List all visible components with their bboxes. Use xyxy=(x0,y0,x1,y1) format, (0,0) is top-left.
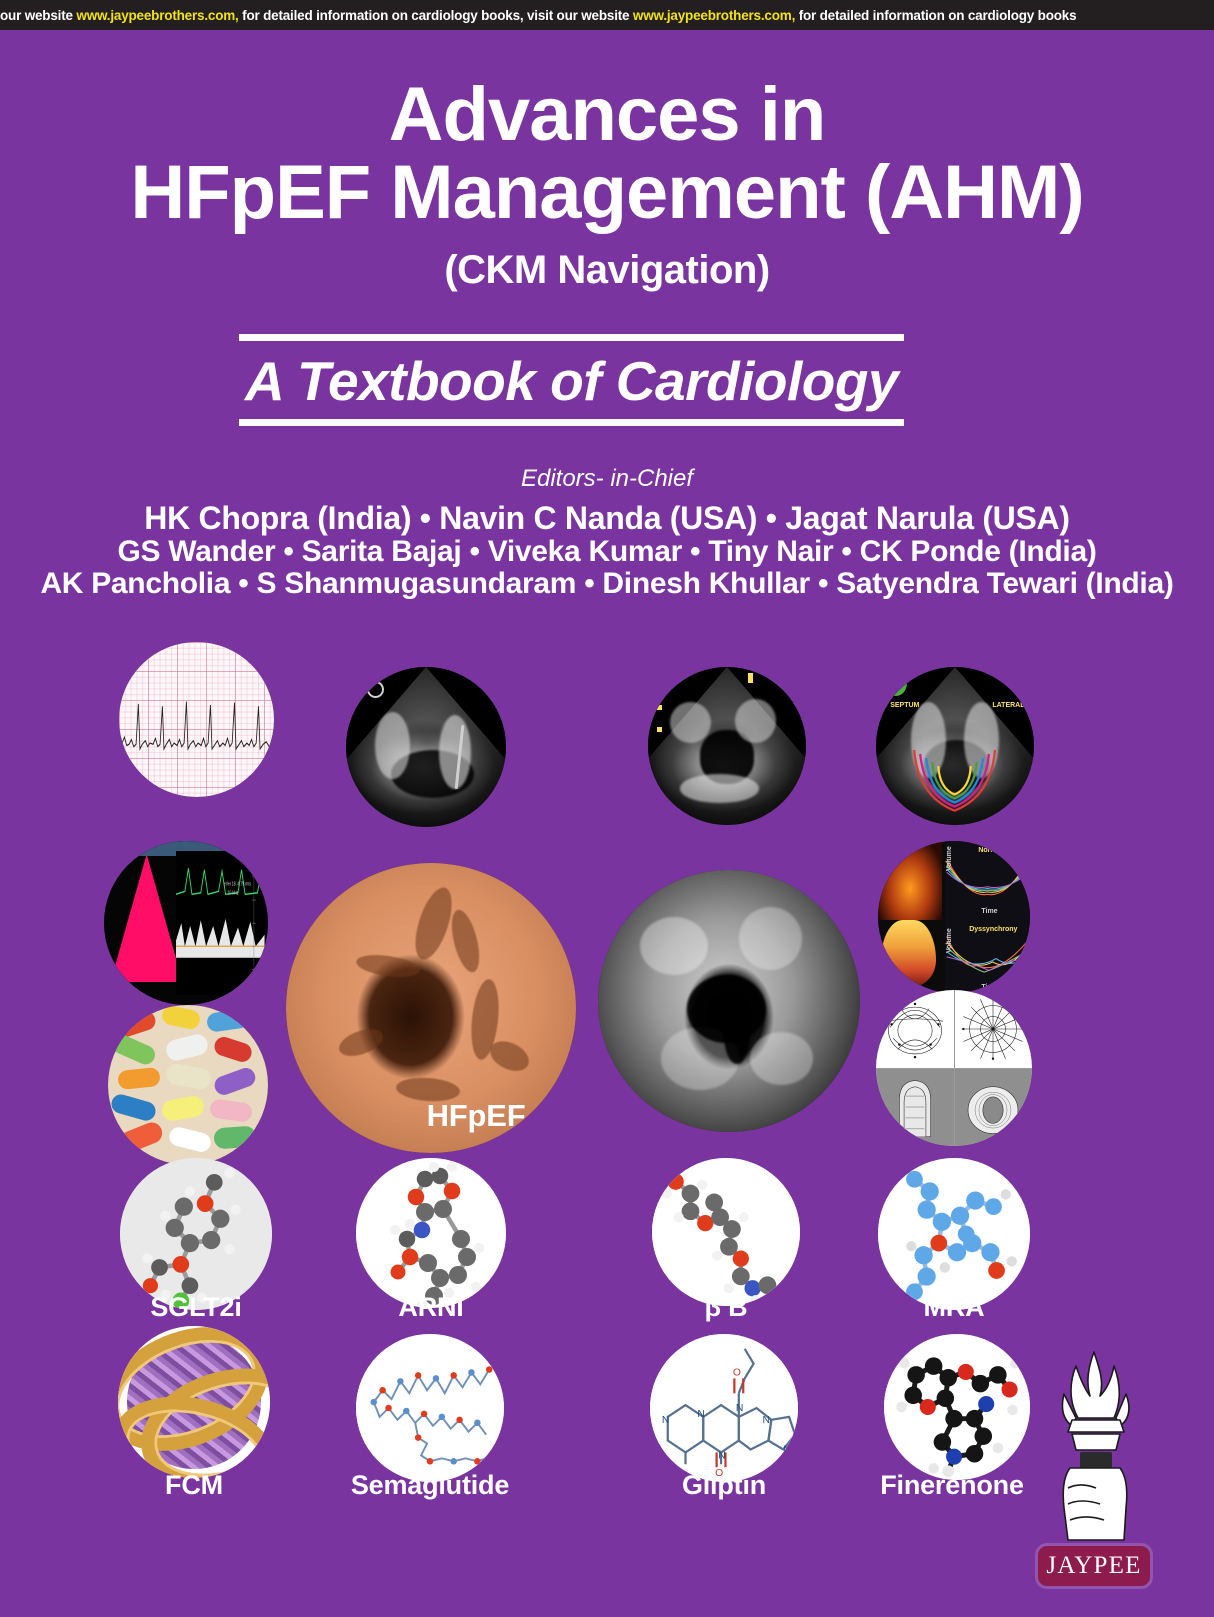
marker-dot-2 xyxy=(657,727,662,732)
assorted-pills xyxy=(108,1005,268,1165)
book-cover: Advances in HFpEF Management (AHM) (CKM … xyxy=(0,30,1214,1617)
editors-line-1: HK Chopra (India) • Navin C Nanda (USA) … xyxy=(0,500,1214,537)
pill xyxy=(167,1125,212,1154)
image-circle-echo-strain: SEPTUM LATERAL xyxy=(876,667,1034,825)
strain-label-volume-1: Volume xyxy=(946,847,953,872)
echo-label-lateral: LATERAL xyxy=(992,702,1024,709)
wall-speckle-b xyxy=(735,699,776,743)
image-circle-beta-blocker xyxy=(652,1158,800,1306)
trabecula xyxy=(336,1024,388,1062)
image-circle-pills xyxy=(108,1005,268,1165)
caption-mra: MRA xyxy=(874,1292,1034,1323)
normal-curves-icon xyxy=(945,847,1030,908)
image-circle-sglt2i xyxy=(120,1158,272,1310)
title-line-1: Advances in xyxy=(389,72,826,157)
image-circle-gliptin: NNN NNN OO xyxy=(650,1334,798,1482)
strain-label-normal: Normal xyxy=(978,847,1002,854)
peptide-chain-icon xyxy=(356,1334,504,1482)
ball-stick-model-icon xyxy=(652,1158,800,1306)
tissue-speckle xyxy=(640,917,708,975)
editors-line-3: AK Pancholia • S Shanmugasundaram • Dine… xyxy=(0,567,1214,601)
pill xyxy=(117,1067,160,1090)
rule-top xyxy=(239,334,904,341)
cmr-grayscale-panel xyxy=(598,870,860,1132)
molecule-sglt2i xyxy=(120,1158,272,1310)
tissue-speckle xyxy=(739,907,802,970)
mesh-quadrant-top-left-icon xyxy=(876,990,954,1068)
caption-beta-blocker: β B xyxy=(646,1292,806,1323)
editors-line-2: GS Wander • Sarita Bajaj • Viveka Kumar … xyxy=(0,535,1214,569)
strain-label-time-1: Time xyxy=(981,908,997,915)
image-circle-semaglutide xyxy=(356,1334,504,1482)
gliptin-skeletal-structure: NNN NNN OO xyxy=(650,1334,798,1482)
trabecula xyxy=(447,908,485,976)
dyssynchrony-panel: Normal Dyssynchrony Time Time Volume Vol… xyxy=(878,841,1030,993)
caption-sglt2i: SGLT2i xyxy=(116,1292,276,1323)
pill xyxy=(115,1119,164,1155)
molecule-finerenone xyxy=(884,1334,1030,1480)
pill xyxy=(161,1005,203,1031)
rule-bottom xyxy=(239,419,904,426)
textbook-title-block: A Textbook of Cardiology xyxy=(239,334,904,426)
color-doppler-fan xyxy=(111,854,183,982)
mesh-divider-horizontal xyxy=(876,1068,1032,1069)
caption-semaglutide: Semaglutide xyxy=(350,1470,510,1501)
promo-url-2[interactable]: www.jaypeebrothers.com, xyxy=(633,8,795,23)
pill xyxy=(161,1094,206,1122)
promo-bar: our website www.jaypeebrothers.com, for … xyxy=(0,0,1214,30)
molecule-semaglutide xyxy=(356,1334,504,1482)
svg-text:10 kHz: 10 kHz xyxy=(228,889,239,896)
svg-text:N: N xyxy=(662,1415,669,1426)
publisher-logo: JAYPEE xyxy=(1036,1348,1154,1608)
pill xyxy=(164,1062,212,1090)
promo-url-1[interactable]: www.jaypeebrothers.com, xyxy=(76,8,238,23)
torch-icon xyxy=(1042,1348,1148,1558)
mesh-quadrant-bottom-left-icon xyxy=(876,1068,954,1146)
3d-echo-thumbnail xyxy=(878,841,942,920)
ball-stick-model-icon xyxy=(120,1158,272,1310)
image-circle-echo-short-axis xyxy=(648,667,806,825)
svg-text:N: N xyxy=(718,1450,725,1461)
spectral-doppler-trace-icon: eVel 18. 4.79 m/s 10 kHz xyxy=(176,851,265,995)
caption-finerenone: Finerenone xyxy=(872,1470,1032,1501)
image-circle-mra xyxy=(878,1158,1030,1310)
tissue-speckle xyxy=(750,1032,813,1084)
promo-prefix: our website xyxy=(0,8,73,23)
promo-mid: for detailed information on cardiology b… xyxy=(242,8,629,23)
pill xyxy=(212,1066,258,1098)
image-circle-fcm xyxy=(118,1326,270,1478)
molecule-arni xyxy=(356,1158,506,1308)
promo-suffix: for detailed information on cardiology b… xyxy=(799,8,1077,23)
caption-gliptin: Gliptin xyxy=(644,1470,804,1501)
molecule-mra xyxy=(878,1158,1030,1310)
caption-hfpef: HFpEF xyxy=(386,1098,566,1134)
svg-text:N: N xyxy=(762,1415,769,1426)
ball-stick-model-icon xyxy=(356,1158,506,1308)
pill xyxy=(206,1009,250,1034)
image-circle-dyssynchrony: Normal Dyssynchrony Time Time Volume Vol… xyxy=(878,841,1030,993)
myocardium-highlight-left xyxy=(375,712,410,779)
jaypee-badge: JAYPEE xyxy=(1038,1546,1150,1586)
pill xyxy=(109,1092,157,1123)
image-circle-color-doppler: eVel 18. 4.79 m/s 10 kHz xyxy=(104,841,268,1005)
svg-text:N: N xyxy=(783,1444,790,1455)
skeletal-formula-icon: NNN NNN OO xyxy=(650,1334,798,1482)
trabecula xyxy=(354,951,420,980)
caption-arni: ARNI xyxy=(351,1292,511,1323)
pill xyxy=(109,1032,158,1068)
book-subtitle: (CKM Navigation) xyxy=(0,248,1214,293)
editors-label: Editors- in-Chief xyxy=(0,465,1214,493)
image-circle-ecg xyxy=(119,642,274,797)
wall-speckle-a xyxy=(670,702,711,743)
doppler-panel: eVel 18. 4.79 m/s 10 kHz xyxy=(104,841,268,1005)
caption-fcm: FCM xyxy=(114,1470,274,1501)
wall-speckle-c xyxy=(680,774,759,802)
ball-stick-model-icon xyxy=(878,1158,1030,1310)
papillary-shadow xyxy=(724,1006,750,1064)
pill xyxy=(164,1032,209,1062)
svg-text:N: N xyxy=(697,1409,704,1420)
mesh-quadrant-bottom-right-icon xyxy=(954,1068,1032,1146)
ferric-carboxymaltose-model xyxy=(118,1326,270,1478)
mesh-line-art-panel xyxy=(876,990,1032,1146)
molecule-beta-blocker xyxy=(652,1158,800,1306)
image-circle-arni xyxy=(356,1158,506,1308)
svg-text:N: N xyxy=(736,1403,743,1414)
mesh-quadrant-top-right-icon xyxy=(954,990,1032,1068)
ball-stick-model-icon xyxy=(884,1334,1030,1480)
image-circle-echo-apical-1 xyxy=(346,667,506,827)
image-circle-mesh-models xyxy=(876,990,1032,1146)
strain-curve-overlay-icon xyxy=(904,749,1005,822)
pill xyxy=(212,1035,254,1065)
echo-label-septum: SEPTUM xyxy=(890,702,919,709)
ecg-waveform-icon xyxy=(119,692,274,763)
book-title: Advances in HFpEF Management (AHM) xyxy=(0,78,1214,231)
marker-dot-3 xyxy=(748,673,753,683)
title-line-2: HFpEF Management (AHM) xyxy=(0,156,1214,230)
pill xyxy=(209,1098,253,1123)
marker-dot-1 xyxy=(657,705,662,710)
pill xyxy=(213,1125,256,1149)
strain-label-volume-2: Volume xyxy=(946,929,953,954)
strain-label-dyssynchrony: Dyssynchrony xyxy=(969,926,1017,933)
textbook-title: A Textbook of Cardiology xyxy=(239,341,904,419)
svg-text:O: O xyxy=(733,1367,741,1378)
publisher-name: JAYPEE xyxy=(1046,1552,1141,1580)
bullseye-volume-render xyxy=(881,920,936,987)
image-circle-cmr xyxy=(598,870,860,1132)
image-circle-finerenone xyxy=(884,1334,1030,1480)
svg-text:eVel 18. 4.79 m/s: eVel 18. 4.79 m/s xyxy=(224,881,252,888)
